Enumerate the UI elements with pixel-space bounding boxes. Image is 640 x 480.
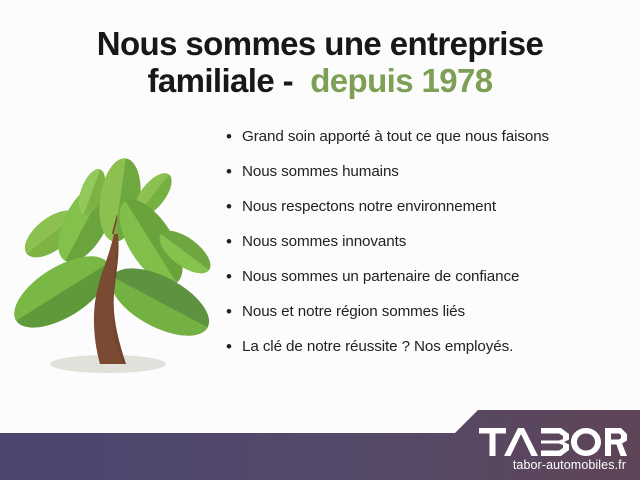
title-dash: -	[274, 62, 310, 99]
bullet-marker-icon: •	[226, 231, 242, 253]
bullet-marker-icon: •	[226, 266, 242, 288]
title-accent: depuis 1978	[310, 62, 492, 99]
list-item-label: Nous sommes un partenaire de confiance	[242, 266, 519, 288]
list-item-label: Nous respectons notre environnement	[242, 196, 496, 218]
list-item: • Nous respectons notre environnement	[226, 196, 636, 231]
list-item: • Nous sommes innovants	[226, 231, 636, 266]
bullet-marker-icon: •	[226, 196, 242, 218]
bullet-marker-icon: •	[226, 301, 242, 323]
list-item: • Nous et notre région sommes liés	[226, 301, 636, 336]
tree-illustration	[8, 150, 220, 388]
list-item: • La clé de notre réussite ? Nos employé…	[226, 336, 636, 371]
list-item: • Nous sommes humains	[226, 161, 636, 196]
page-title: Nous sommes une entreprise familiale - d…	[0, 26, 640, 100]
list-item-label: Nous et notre région sommes liés	[242, 301, 465, 323]
tabor-wordmark	[478, 427, 628, 457]
footer-bar: tabor-automobiles.fr	[0, 398, 640, 480]
title-line-2-prefix: familiale	[147, 62, 274, 99]
title-line-1: Nous sommes une entreprise	[0, 26, 640, 63]
brand-logo[interactable]: tabor-automobiles.fr	[408, 427, 628, 472]
list-item-label: Nous sommes innovants	[242, 231, 406, 253]
list-item-label: Nous sommes humains	[242, 161, 399, 183]
list-item: • Grand soin apporté à tout ce que nous …	[226, 126, 636, 161]
title-line-2: familiale - depuis 1978	[0, 63, 640, 100]
bullet-marker-icon: •	[226, 126, 242, 148]
bullet-marker-icon: •	[226, 336, 242, 358]
list-item-label: La clé de notre réussite ? Nos employés.	[242, 336, 513, 358]
list-item-label: Grand soin apporté à tout ce que nous fa…	[242, 126, 549, 148]
slide-canvas: Nous sommes une entreprise familiale - d…	[0, 0, 640, 480]
bullet-marker-icon: •	[226, 161, 242, 183]
list-item: • Nous sommes un partenaire de confiance	[226, 266, 636, 301]
logo-tagline: tabor-automobiles.fr	[408, 458, 628, 472]
feature-bullet-list: • Grand soin apporté à tout ce que nous …	[226, 126, 636, 371]
